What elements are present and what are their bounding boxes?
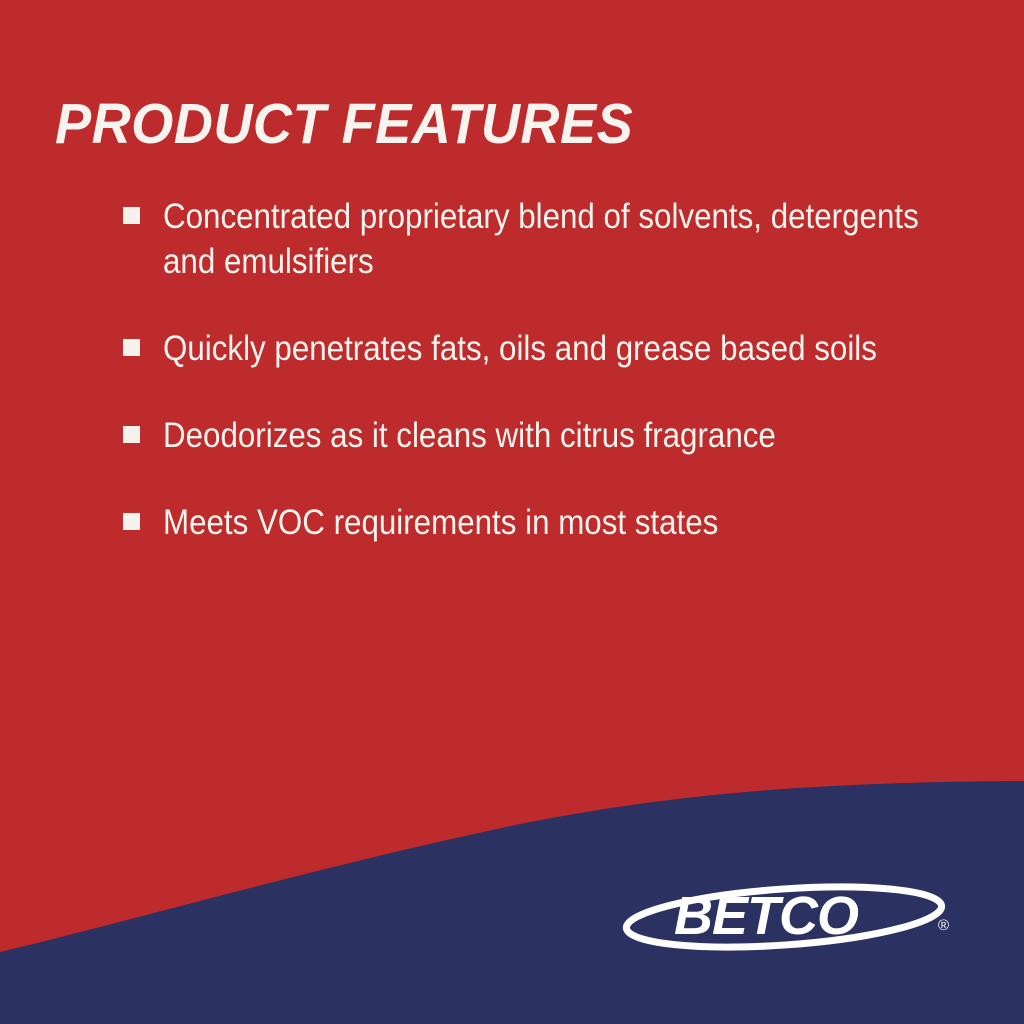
list-item-label: Concentrated proprietary blend of solven… bbox=[163, 194, 924, 284]
product-features-graphic: PRODUCT FEATURES Concentrated proprietar… bbox=[0, 0, 1024, 1024]
list-item: Quickly penetrates fats, oils and grease… bbox=[122, 326, 922, 371]
list-item: Concentrated proprietary blend of solven… bbox=[122, 194, 922, 284]
list-item-label: Deodorizes as it cleans with citrus frag… bbox=[163, 413, 924, 458]
feature-list: Concentrated proprietary blend of solven… bbox=[122, 194, 922, 545]
list-item-label: Quickly penetrates fats, oils and grease… bbox=[163, 326, 924, 371]
square-bullet-icon bbox=[123, 339, 140, 356]
betco-logo: BETCO ® bbox=[616, 872, 964, 956]
square-bullet-icon bbox=[123, 207, 140, 224]
logo-wordmark: BETCO bbox=[674, 886, 859, 946]
square-bullet-icon bbox=[123, 426, 140, 443]
square-bullet-icon bbox=[123, 513, 140, 530]
list-item: Meets VOC requirements in most states bbox=[122, 500, 922, 545]
list-item-label: Meets VOC requirements in most states bbox=[163, 500, 924, 545]
registered-trademark-icon: ® bbox=[938, 917, 949, 934]
list-item: Deodorizes as it cleans with citrus frag… bbox=[122, 413, 922, 458]
page-title: PRODUCT FEATURES bbox=[55, 92, 633, 156]
